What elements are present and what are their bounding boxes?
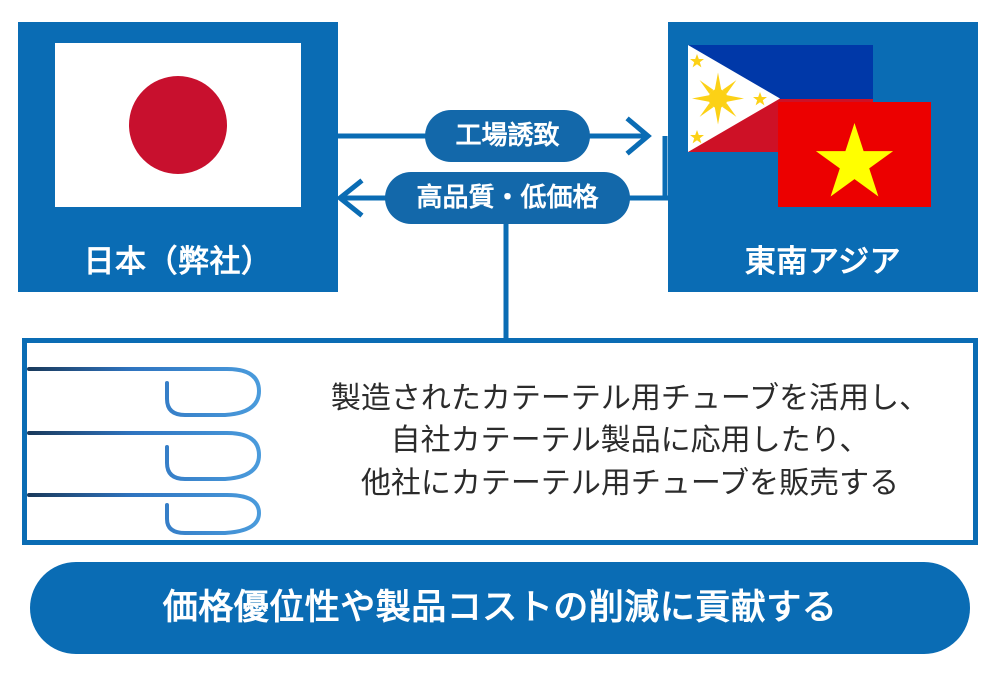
diagram-canvas: 日本（弊社） bbox=[0, 0, 1000, 677]
flow-label-invite-factory-text: 工場誘致 bbox=[455, 123, 559, 149]
flow-label-quality-price[interactable]: 高品質・低価格 bbox=[385, 172, 630, 224]
japan-flag-disc bbox=[129, 76, 227, 174]
catheter-tube-illustration bbox=[27, 343, 295, 540]
japan-flag bbox=[55, 43, 301, 207]
product-description-line-2: 自社カテーテル製品に応用したり、 bbox=[295, 420, 965, 463]
product-description-text: 製造されたカテーテル用チューブを活用し、 自社カテーテル製品に応用したり、 他社… bbox=[295, 378, 973, 506]
region-panel-southeast-asia: 東南アジア bbox=[668, 22, 978, 292]
region-label-southeast-asia: 東南アジア bbox=[668, 247, 978, 278]
vietnam-flag-star bbox=[778, 102, 931, 207]
conclusion-banner-text: 価格優位性や製品コストの削減に貢献する bbox=[163, 591, 838, 626]
flow-label-invite-factory[interactable]: 工場誘致 bbox=[425, 110, 590, 162]
product-description-line-3: 他社にカテーテル用チューブを販売する bbox=[295, 463, 965, 506]
region-label-japan: 日本（弊社） bbox=[18, 247, 338, 278]
catheter-tubes-svg bbox=[27, 343, 295, 540]
vietnam-flag bbox=[778, 102, 931, 207]
product-description-line-1: 製造されたカテーテル用チューブを活用し、 bbox=[295, 378, 965, 421]
product-description-box: 製造されたカテーテル用チューブを活用し、 自社カテーテル製品に応用したり、 他社… bbox=[22, 338, 978, 545]
region-panel-japan: 日本（弊社） bbox=[18, 22, 338, 292]
flow-label-quality-price-text: 高品質・低価格 bbox=[416, 185, 598, 211]
conclusion-banner: 価格優位性や製品コストの削減に貢献する bbox=[30, 562, 970, 654]
